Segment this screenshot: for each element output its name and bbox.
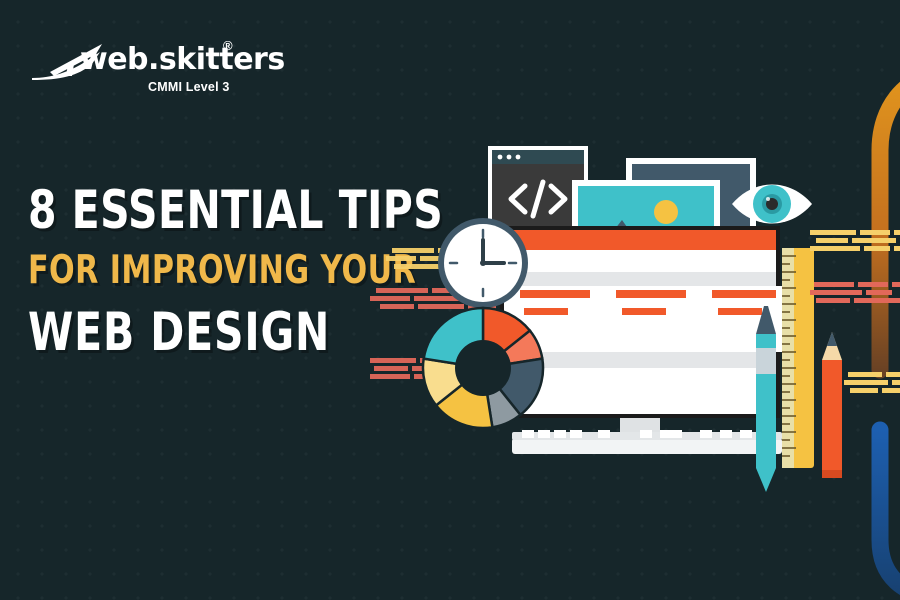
banner-canvas: web.skitters ® CMMI Level 3 8 Essential … <box>0 0 900 600</box>
registered-mark-icon: ® <box>223 38 233 53</box>
pen-teal <box>756 306 776 492</box>
keyboard <box>512 430 782 454</box>
donut-chart <box>423 308 543 428</box>
ruler <box>782 248 814 468</box>
donut-hole <box>455 340 511 396</box>
sun-icon <box>654 200 678 224</box>
web-design-workspace-illustration <box>370 120 900 520</box>
headline-line-3: Web Design <box>28 306 406 359</box>
brand-logo[interactable]: web.skitters ® CMMI Level 3 <box>30 38 260 106</box>
brand-name: web.skitters <box>80 42 285 77</box>
monitor <box>500 226 786 448</box>
headline-line-2: For Improving Your <box>28 251 406 290</box>
brand-tagline: CMMI Level 3 <box>148 80 230 94</box>
headline-line-1: 8 Essential Tips <box>28 184 406 237</box>
pencil-orange <box>822 332 842 478</box>
